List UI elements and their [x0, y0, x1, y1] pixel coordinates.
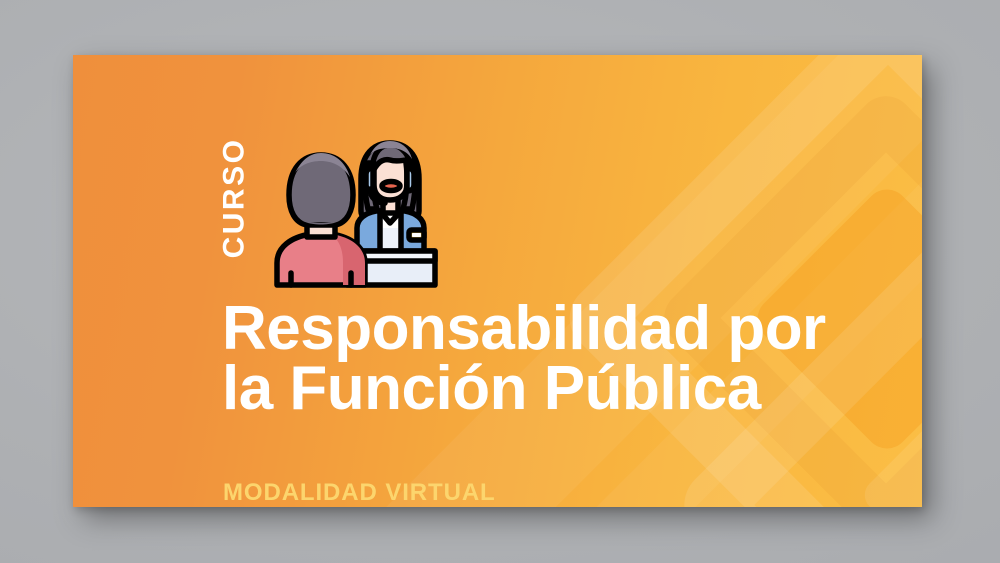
diagonal-streak-icon: [525, 55, 922, 507]
page-title-line-2: la Función Pública: [222, 359, 922, 419]
diamond-small-icon: [858, 410, 922, 507]
customer-figure: [277, 153, 365, 285]
agent-figure: [357, 141, 424, 255]
diamond-pattern-decoration: [73, 55, 922, 507]
course-eyebrow-text: CURSO: [217, 138, 251, 259]
course-modality-label: MODALIDAD VIRTUAL: [223, 479, 496, 507]
diamond-ring-outer-icon: [556, 55, 922, 507]
course-eyebrow-label: CURSO: [212, 133, 256, 263]
page-title: Responsabilidad por la Función Pública: [222, 299, 922, 419]
customer-service-desk-illustration: [269, 133, 441, 293]
page-title-line-1: Responsabilidad por: [222, 299, 922, 359]
course-promo-card: CURSO: [73, 55, 922, 507]
